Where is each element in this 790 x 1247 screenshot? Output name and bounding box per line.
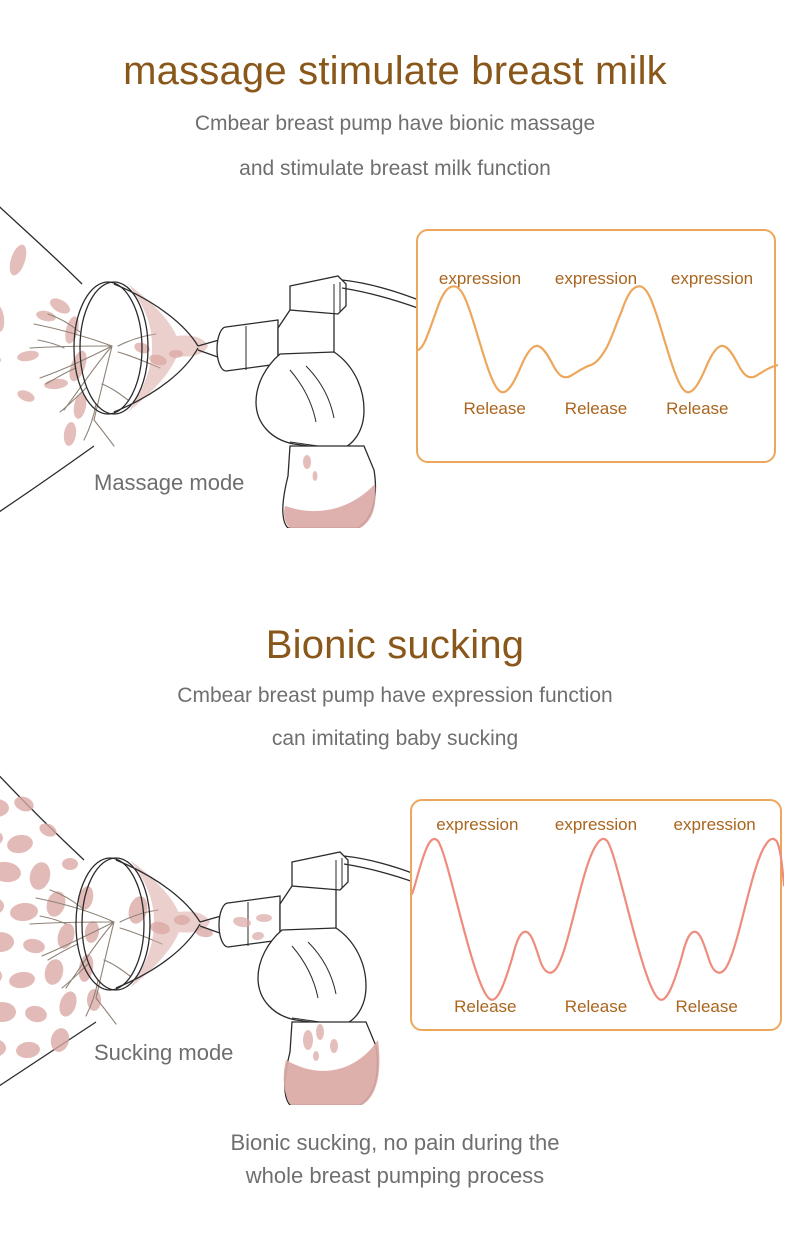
- massage-section-title: massage stimulate breast milk: [0, 48, 790, 94]
- massage-waveform-card: expression expression expression Release…: [416, 229, 776, 463]
- sucking-waveform-card: expression expression expression Release…: [410, 799, 782, 1031]
- footer-caption-block: Bionic sucking, no pain during the whole…: [0, 1126, 790, 1192]
- massage-mode-label: Massage mode: [94, 470, 244, 496]
- footer-caption-line-2: whole breast pumping process: [0, 1159, 790, 1192]
- massage-subtitle-line-1: Cmbear breast pump have bionic massage: [0, 108, 790, 139]
- sucking-subtitle-line-1: Cmbear breast pump have expression funct…: [0, 680, 790, 711]
- sucking-subtitle-line-2: can imitating baby sucking: [0, 723, 790, 754]
- footer-caption-line-1: Bionic sucking, no pain during the: [0, 1126, 790, 1159]
- massage-waveform-plot: [418, 231, 778, 465]
- connector: [217, 320, 278, 371]
- sucking-heading-block: Bionic sucking Cmbear breast pump have e…: [0, 622, 790, 754]
- valve-body: [256, 352, 364, 450]
- massage-subtitle-line-2: and stimulate breast milk function: [0, 153, 790, 184]
- sucking-waveform-plot: [412, 801, 784, 1033]
- pump-flange-fill: [130, 860, 210, 988]
- milk-duct-tree: [30, 314, 160, 446]
- infographic-page: massage stimulate breast milk Cmbear bre…: [0, 0, 790, 1247]
- sucking-mode-label: Sucking mode: [94, 1040, 233, 1066]
- valve-body: [258, 928, 366, 1026]
- massage-heading-block: massage stimulate breast milk Cmbear bre…: [0, 48, 790, 184]
- sucking-section-title: Bionic sucking: [0, 622, 790, 668]
